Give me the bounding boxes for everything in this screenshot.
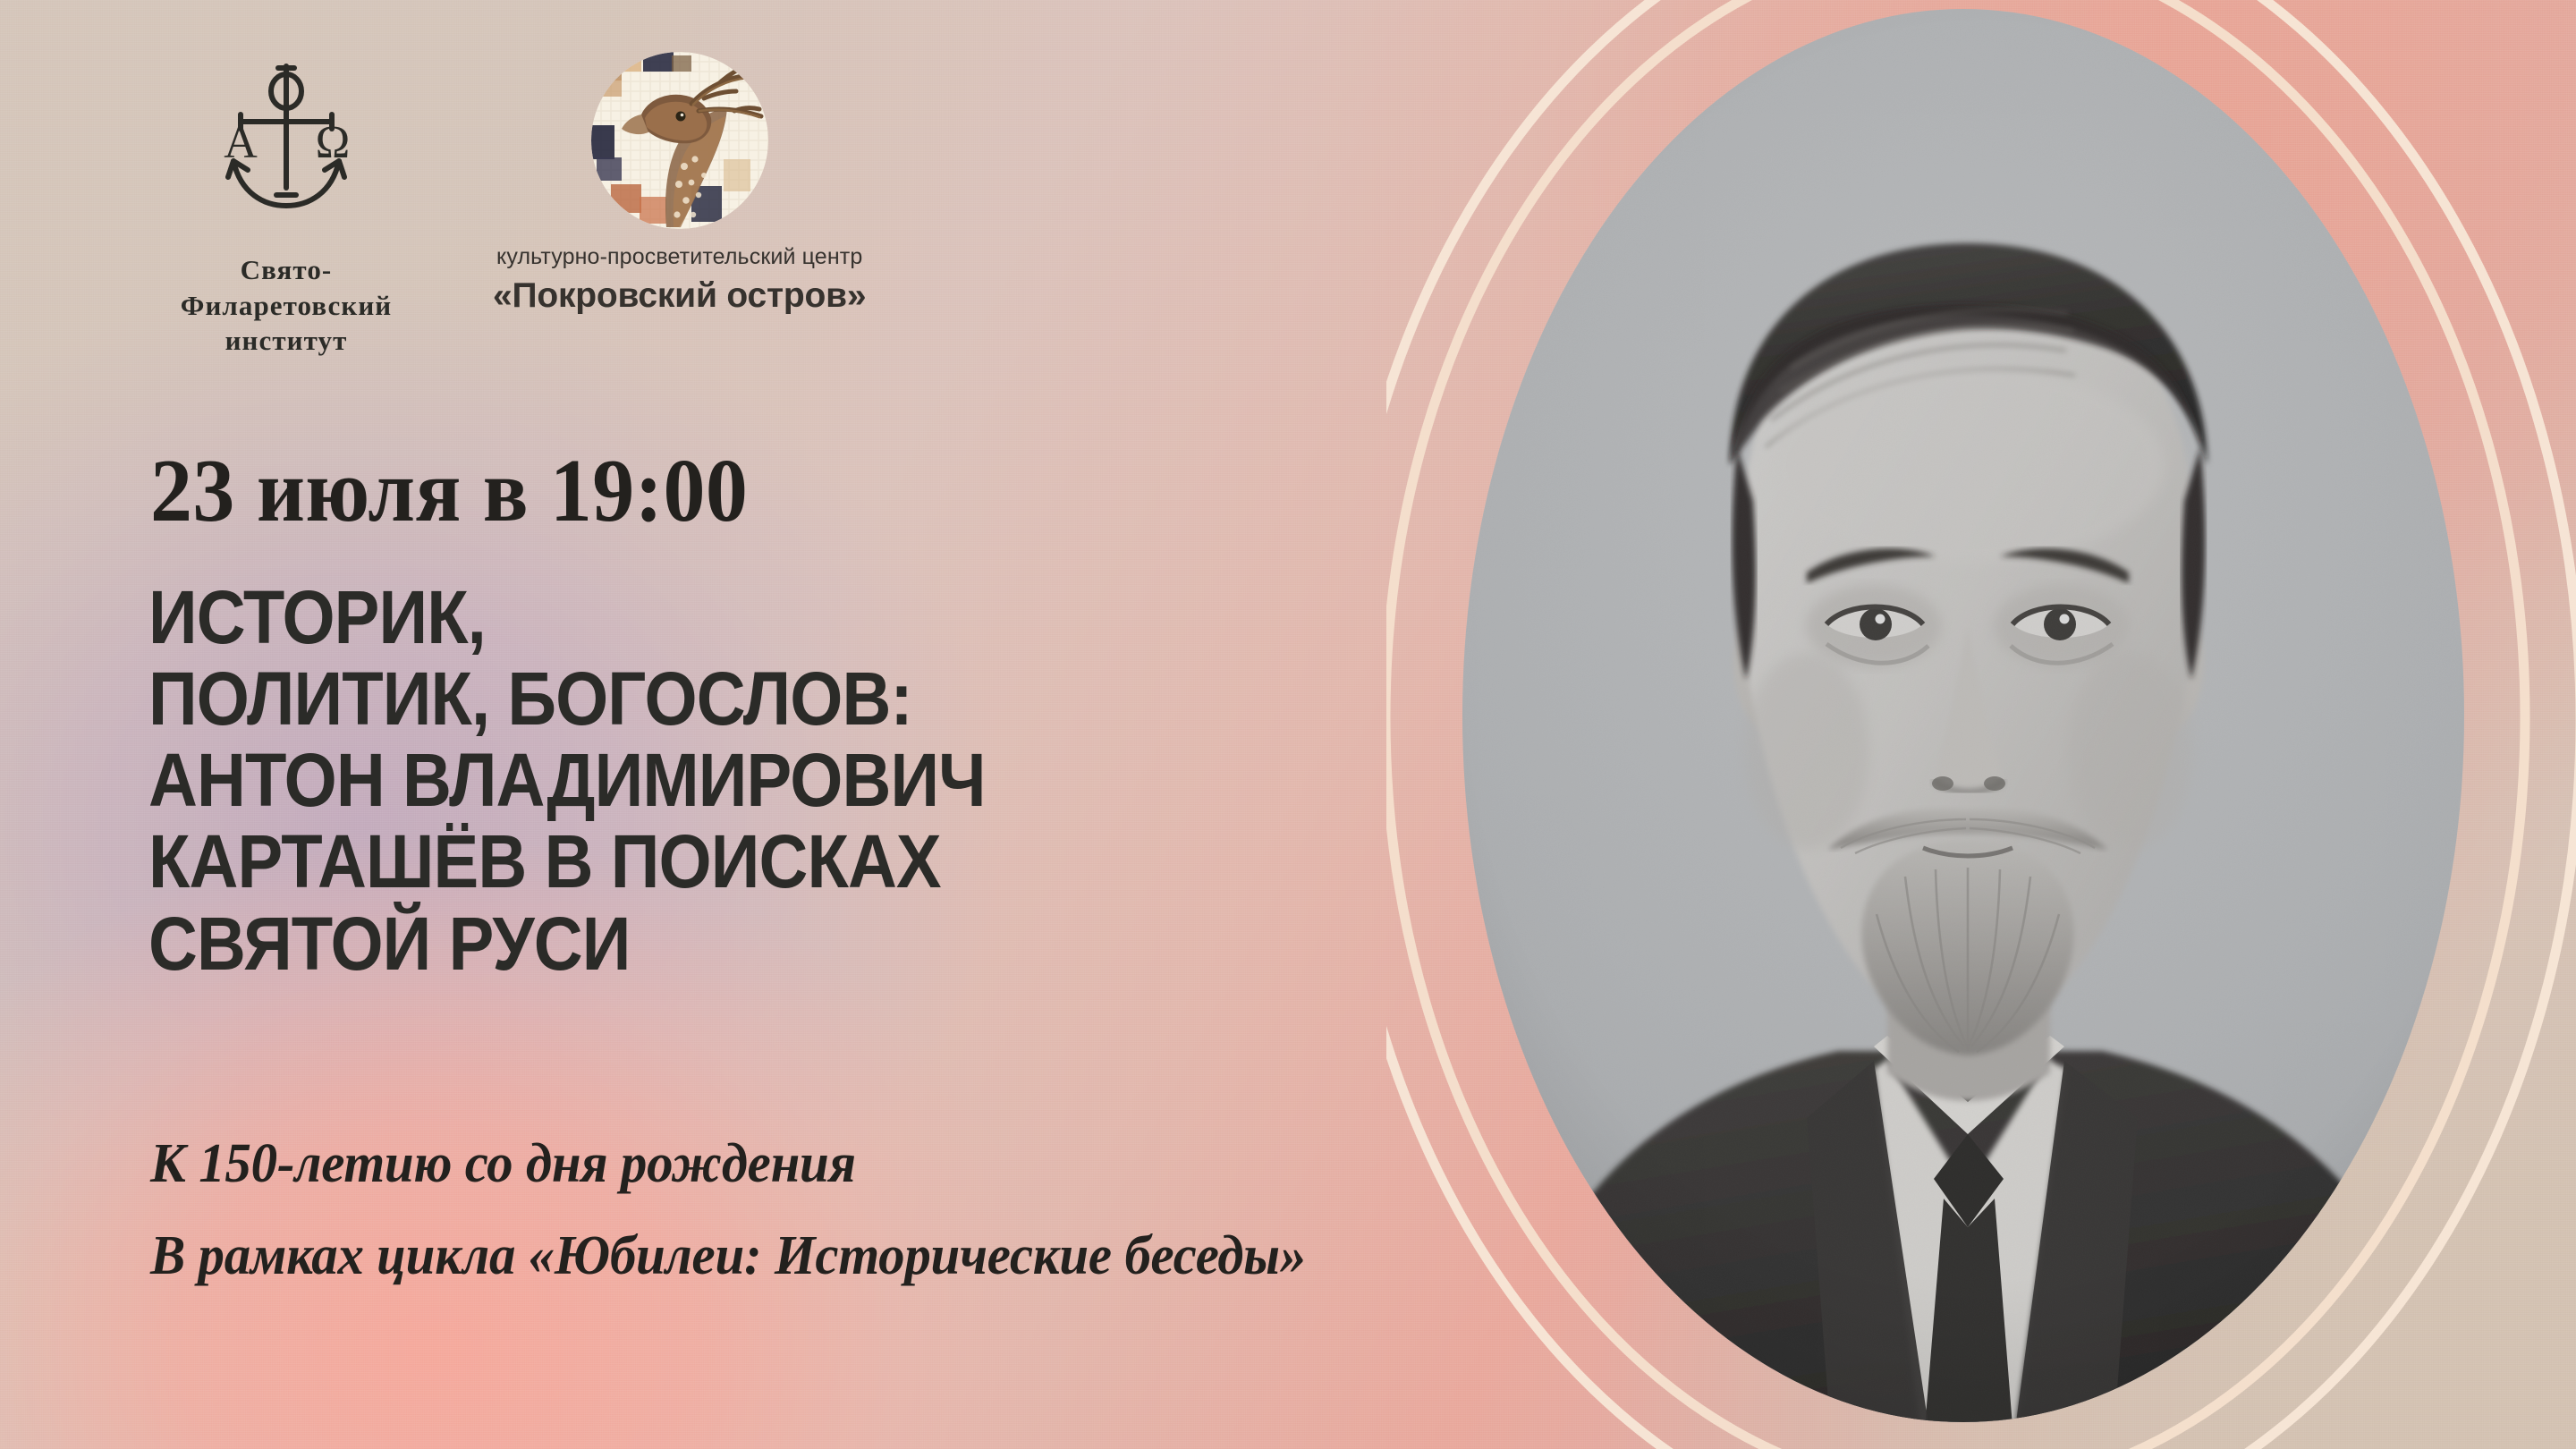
logo-row: A Ω Свято-Филаретовский институт (148, 52, 866, 359)
event-title-line-2: ПОЛИТИК, БОГОСЛОВ: (148, 658, 1282, 740)
institute-name-line1: Свято-Филаретовский (148, 252, 425, 323)
logo-center[interactable]: культурно-просветительский центр «Покров… (493, 52, 866, 317)
center-name: культурно-просветительский центр «Покров… (493, 243, 866, 317)
center-title: «Покровский остров» (493, 275, 866, 318)
event-title-line-5: СВЯТОЙ РУСИ (148, 903, 1282, 985)
content-column: A Ω Свято-Филаретовский институт (0, 0, 1467, 1449)
portrait-svg (1386, 0, 2576, 1449)
center-kicker: культурно-просветительский центр (493, 243, 866, 271)
poster-canvas: A Ω Свято-Филаретовский институт (0, 0, 2576, 1449)
event-title-line-4: КАРТАШЁВ В ПОИСКАХ (148, 821, 1282, 902)
institute-name: Свято-Филаретовский институт (148, 252, 425, 359)
portrait-zone (1386, 0, 2576, 1449)
alpha-glyph: A (224, 117, 258, 168)
portrait-photo (1386, 0, 2576, 1449)
anchor-cross-alpha-omega-icon: A Ω (201, 52, 371, 240)
institute-name-line2: институт (148, 323, 425, 359)
mosaic-deer-circle-icon (591, 52, 768, 229)
event-title: ИСТОРИК, ПОЛИТИК, БОГОСЛОВ: АНТОН ВЛАДИМ… (148, 577, 1401, 985)
event-subtitle: К 150-летию со дня рождения В рамках цик… (150, 1118, 1510, 1302)
event-title-line-3: АНТОН ВЛАДИМИРОВИЧ (148, 740, 1282, 821)
omega-glyph: Ω (316, 117, 351, 168)
event-title-line-1: ИСТОРИК, (148, 577, 1282, 658)
event-date: 23 июля в 19:00 (150, 438, 748, 542)
logo-institute[interactable]: A Ω Свято-Филаретовский институт (148, 52, 425, 359)
event-subtitle-line-1: К 150-летию со дня рождения (150, 1118, 1442, 1210)
event-subtitle-line-2: В рамках цикла «Юбилеи: Исторические бес… (150, 1210, 1442, 1302)
